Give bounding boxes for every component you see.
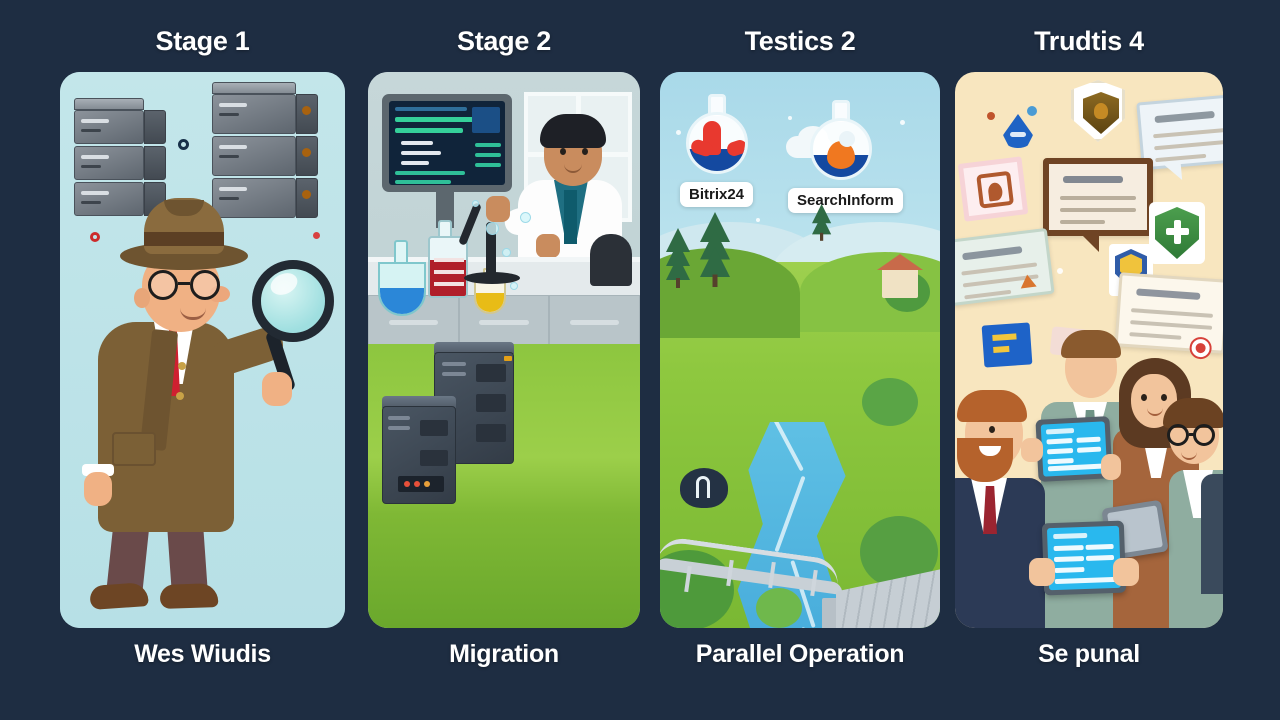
- rock-icon: [680, 468, 728, 508]
- panel-3-caption: Parallel Operation: [660, 640, 940, 669]
- bridge-icon: [660, 544, 844, 624]
- outdoor-scene: [368, 344, 640, 628]
- tool-label-searchinform: SearchInform: [788, 188, 903, 213]
- infographic-canvas: Stage 1: [0, 0, 1280, 720]
- tweezers-icon: [458, 202, 482, 246]
- panel-1-title: Stage 1: [60, 26, 345, 57]
- panel-4-caption: Se punal: [955, 640, 1223, 669]
- panel-2-title: Stage 2: [368, 26, 640, 57]
- laboratory-scene: [368, 72, 640, 367]
- panel-4-title: Trudtis 4: [955, 26, 1223, 57]
- panel-stage-1[interactable]: Stage 1: [60, 0, 345, 720]
- tablet-icon[interactable]: [1042, 521, 1126, 596]
- droplet-icon: [1003, 114, 1033, 148]
- certificate-icon: [1043, 158, 1153, 236]
- fume-hood-icon: [590, 234, 632, 286]
- panel-stage-3[interactable]: Testics 2 Bitrix24: [660, 0, 940, 720]
- bush-icon: [862, 378, 918, 426]
- certificate-icon: [955, 228, 1055, 306]
- panel-1-caption: Wes Wiudis: [60, 640, 345, 669]
- panel-4-artwork: [955, 72, 1223, 628]
- status-dot: [178, 139, 189, 150]
- tool-label-bitrix24: Bitrix24: [680, 182, 753, 207]
- panel-stage-4[interactable]: Trudtis 4: [955, 0, 1223, 720]
- landscape: [660, 262, 940, 628]
- monitor-icon: [382, 94, 512, 192]
- panel-3-artwork: Bitrix24 SearchInform: [660, 72, 940, 628]
- panel-3-title: Testics 2: [660, 26, 940, 57]
- house-icon: [882, 268, 918, 298]
- status-dot: [90, 232, 100, 242]
- flag-card-icon: [982, 322, 1033, 367]
- shield-icon: [1149, 202, 1205, 264]
- panel-1-artwork: [60, 72, 345, 628]
- magnifier-icon: [252, 260, 334, 342]
- panel-stage-2[interactable]: Stage 2: [368, 0, 640, 720]
- official-badge-icon: [1071, 80, 1125, 142]
- panel-2-caption: Migration: [368, 640, 640, 669]
- framed-picture-icon: [958, 156, 1029, 221]
- panel-2-artwork: [368, 72, 640, 628]
- status-dot: [313, 232, 320, 239]
- certificate-icon: [1115, 272, 1223, 353]
